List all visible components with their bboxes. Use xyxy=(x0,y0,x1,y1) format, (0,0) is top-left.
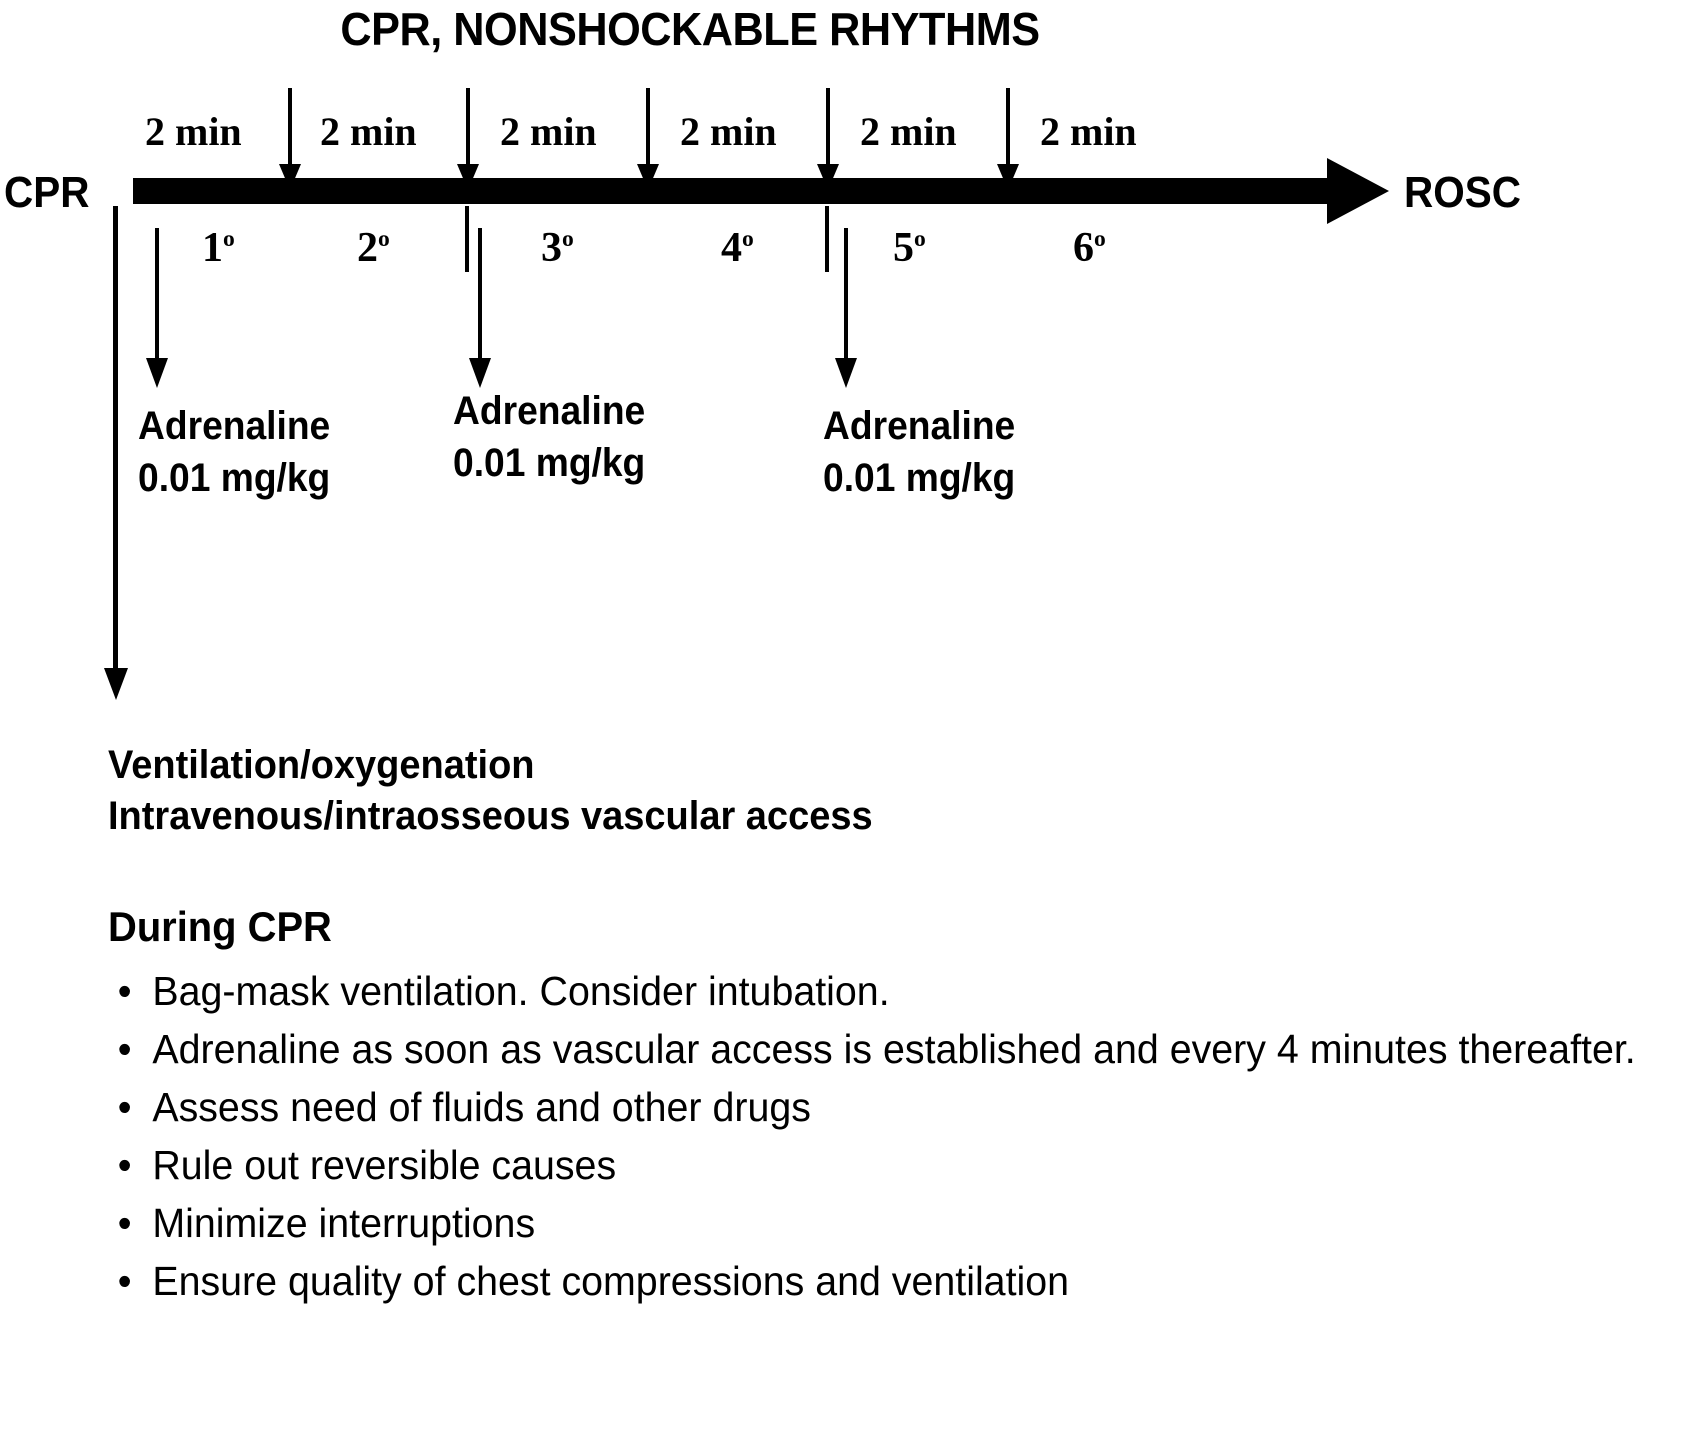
arrow-head-icon xyxy=(457,164,479,190)
cycle-marker-sup: o xyxy=(223,226,235,252)
interval-label-6: 2 min xyxy=(1040,108,1137,155)
cycle-marker-number: 4 xyxy=(721,225,742,271)
arrow-shaft xyxy=(1006,88,1010,168)
support-measure-line-2: Intravenous/intraosseous vascular access xyxy=(108,791,873,842)
timeline-start-label: CPR xyxy=(4,168,89,218)
timeline-arrowhead-icon xyxy=(1327,158,1389,224)
support-measures-block: Ventilation/oxygenation Intravenous/intr… xyxy=(108,740,873,842)
arrow-shaft xyxy=(466,88,470,168)
cpr-algorithm-figure: CPR, NONSHOCKABLE RHYTHMS CPR ROSC 2 min… xyxy=(0,0,1684,1448)
arrow-shaft xyxy=(826,88,830,168)
list-item: • Rule out reversible causes xyxy=(112,1136,1648,1194)
bullet-icon: • xyxy=(118,1078,132,1136)
arrow-head-icon xyxy=(817,164,839,190)
cycle-marker-5: 5o xyxy=(893,224,926,272)
list-item-text: Adrenaline as soon as vascular access is… xyxy=(152,1020,1648,1078)
arrow-head-icon xyxy=(835,358,857,388)
arrow-head-icon xyxy=(469,358,491,388)
support-measure-line-1: Ventilation/oxygenation xyxy=(108,740,873,791)
arrow-head-icon xyxy=(997,164,1019,190)
arrow-head-icon xyxy=(146,358,168,388)
cycle-marker-sup: o xyxy=(562,226,574,252)
bullet-icon: • xyxy=(118,1252,132,1310)
during-cpr-heading: During CPR xyxy=(108,903,332,951)
bullet-icon: • xyxy=(118,1020,132,1078)
adrenaline-dose-block-2: Adrenaline 0.01 mg/kg xyxy=(453,385,645,489)
cycle-marker-sup: o xyxy=(378,226,390,252)
arrow-head-icon xyxy=(279,164,301,190)
adrenaline-drug-name: Adrenaline xyxy=(823,400,1015,452)
cycle-marker-sup: o xyxy=(1094,226,1106,252)
list-item: • Ensure quality of chest compressions a… xyxy=(112,1252,1648,1310)
adrenaline-dose-value: 0.01 mg/kg xyxy=(823,452,1015,504)
arrow-head-icon xyxy=(637,164,659,190)
timeline-end-label: ROSC xyxy=(1404,168,1521,218)
arrow-shaft xyxy=(478,228,482,363)
timeline-bar xyxy=(133,178,1333,204)
cycle-divider-tick-1 xyxy=(465,206,469,272)
list-item-text: Minimize interruptions xyxy=(152,1194,1648,1252)
cycle-marker-number: 2 xyxy=(357,225,378,271)
list-item: • Adrenaline as soon as vascular access … xyxy=(112,1020,1648,1078)
list-item: • Bag-mask ventilation. Consider intubat… xyxy=(112,962,1648,1020)
during-cpr-list: • Bag-mask ventilation. Consider intubat… xyxy=(112,962,1648,1310)
cycle-marker-6: 6o xyxy=(1073,224,1106,272)
adrenaline-drug-name: Adrenaline xyxy=(138,400,330,452)
support-measures-connector-line xyxy=(113,206,118,676)
cycle-marker-number: 3 xyxy=(541,225,562,271)
cycle-marker-number: 5 xyxy=(893,225,914,271)
bullet-icon: • xyxy=(118,1136,132,1194)
cycle-marker-number: 1 xyxy=(202,225,223,271)
arrow-shaft xyxy=(155,228,159,363)
cycle-divider-tick-2 xyxy=(825,206,829,272)
cycle-marker-4: 4o xyxy=(721,224,754,272)
list-item: • Assess need of fluids and other drugs xyxy=(112,1078,1648,1136)
cycle-marker-number: 6 xyxy=(1073,225,1094,271)
adrenaline-dose-block-1: Adrenaline 0.01 mg/kg xyxy=(138,400,330,504)
list-item-text: Ensure quality of chest compressions and… xyxy=(152,1252,1648,1310)
adrenaline-dose-value: 0.01 mg/kg xyxy=(453,437,645,489)
cycle-marker-sup: o xyxy=(914,226,926,252)
cycle-marker-2: 2o xyxy=(357,224,390,272)
support-measures-arrow-head-icon xyxy=(104,668,128,700)
arrow-shaft xyxy=(288,88,292,168)
cycle-marker-1: 1o xyxy=(202,224,235,272)
list-item-text: Rule out reversible causes xyxy=(152,1136,1648,1194)
interval-label-4: 2 min xyxy=(680,108,777,155)
list-item-text: Bag-mask ventilation. Consider intubatio… xyxy=(152,962,1648,1020)
interval-label-3: 2 min xyxy=(500,108,597,155)
list-item: • Minimize interruptions xyxy=(112,1194,1648,1252)
interval-label-2: 2 min xyxy=(320,108,417,155)
interval-label-1: 2 min xyxy=(145,108,242,155)
adrenaline-drug-name: Adrenaline xyxy=(453,385,645,437)
interval-label-5: 2 min xyxy=(860,108,957,155)
bullet-icon: • xyxy=(118,962,132,1020)
arrow-shaft xyxy=(646,88,650,168)
cycle-marker-sup: o xyxy=(742,226,754,252)
bullet-icon: • xyxy=(118,1194,132,1252)
adrenaline-dose-value: 0.01 mg/kg xyxy=(138,452,330,504)
page-title: CPR, NONSHOCKABLE RHYTHMS xyxy=(41,2,1338,56)
arrow-shaft xyxy=(844,228,848,363)
cycle-marker-3: 3o xyxy=(541,224,574,272)
list-item-text: Assess need of fluids and other drugs xyxy=(152,1078,1648,1136)
adrenaline-dose-block-3: Adrenaline 0.01 mg/kg xyxy=(823,400,1015,504)
